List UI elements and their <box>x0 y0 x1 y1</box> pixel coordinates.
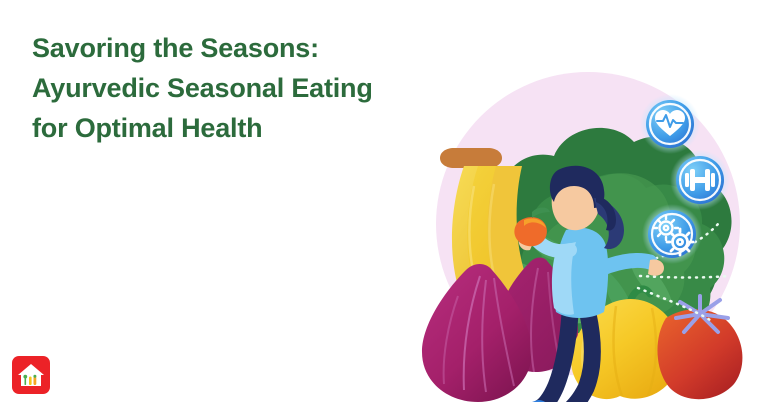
page-title: Savoring the Seasons: Ayurvedic Seasonal… <box>32 28 462 148</box>
page-title-line-1: Savoring the Seasons: <box>32 28 462 68</box>
dumbbell-badge-icon[interactable] <box>670 150 730 210</box>
page-root: Savoring the Seasons: Ayurvedic Seasonal… <box>0 0 768 402</box>
page-title-line-2: Ayurvedic Seasonal Eating <box>32 68 462 108</box>
page-title-line-3: for Optimal Health <box>32 108 462 148</box>
home-house-logo[interactable] <box>12 356 50 394</box>
gears-badge-icon[interactable] <box>642 204 702 264</box>
heartbeat-badge-icon[interactable] <box>640 94 700 154</box>
